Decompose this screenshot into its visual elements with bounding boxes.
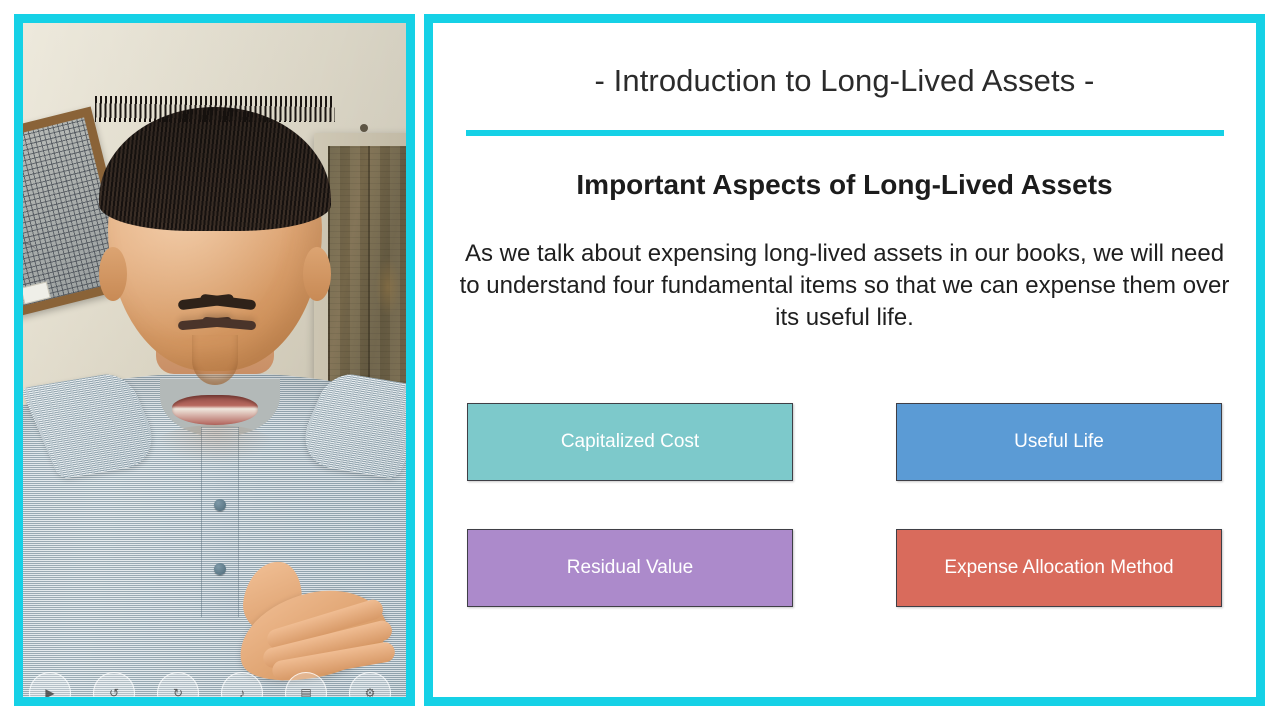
forward-button[interactable]: ↻ [157, 672, 199, 697]
presenter-hair [99, 107, 331, 231]
play-icon: ▶ [45, 687, 54, 697]
concept-box-label: Expense Allocation Method [944, 557, 1173, 579]
rewind-icon: ↺ [109, 687, 119, 697]
slide-body-text: As we talk about expensing long-lived as… [459, 238, 1230, 334]
eye-right [201, 317, 256, 331]
concept-box-label: Residual Value [567, 557, 693, 579]
volume-button[interactable]: ♪ [221, 672, 263, 697]
gear-icon: ⚙ [365, 687, 376, 697]
shirt-button-top [214, 499, 226, 511]
rewind-button[interactable]: ↺ [93, 672, 135, 697]
video-control-bar[interactable]: ▶ ↺ ↻ ♪ ▤ ⚙ ⛶ [23, 673, 406, 697]
slide-stage: ▶ ↺ ↻ ♪ ▤ ⚙ ⛶ - Introduction to Long-Liv… [0, 0, 1280, 720]
settings-button[interactable]: ⚙ [349, 672, 391, 697]
nose [192, 335, 238, 385]
ear-left [99, 247, 127, 301]
ear-right [303, 247, 331, 301]
concept-box-capitalized-cost: Capitalized Cost [467, 403, 793, 481]
captions-button[interactable]: ▤ [285, 672, 327, 697]
title-divider-rule [466, 130, 1224, 136]
shirt-collar-right [292, 371, 406, 479]
concept-box-grid: Capitalized Cost Useful Life Residual Va… [467, 403, 1222, 607]
forward-icon: ↻ [173, 687, 183, 697]
chin [155, 425, 275, 465]
concept-box-expense-allocation-method: Expense Allocation Method [896, 529, 1222, 607]
slide-heading: Important Aspects of Long-Lived Assets [433, 169, 1256, 201]
concept-box-residual-value: Residual Value [467, 529, 793, 607]
mouth [172, 395, 258, 425]
video-viewport: ▶ ↺ ↻ ♪ ▤ ⚙ ⛶ [23, 23, 406, 697]
presenter-figure [23, 23, 406, 697]
slide-content-panel: - Introduction to Long-Lived Assets - Im… [424, 14, 1265, 706]
concept-box-label: Useful Life [1014, 431, 1104, 453]
presenter-video-panel[interactable]: ▶ ↺ ↻ ♪ ▤ ⚙ ⛶ [14, 14, 415, 706]
volume-icon: ♪ [239, 687, 245, 697]
play-pause-button[interactable]: ▶ [29, 672, 71, 697]
eyebrow-right [199, 294, 256, 311]
captions-icon: ▤ [300, 687, 311, 697]
slide-title: - Introduction to Long-Lived Assets - [433, 63, 1256, 99]
concept-box-useful-life: Useful Life [896, 403, 1222, 481]
shirt-collar-left [23, 371, 165, 479]
slide-canvas: - Introduction to Long-Lived Assets - Im… [433, 23, 1256, 697]
concept-box-label: Capitalized Cost [561, 431, 699, 453]
